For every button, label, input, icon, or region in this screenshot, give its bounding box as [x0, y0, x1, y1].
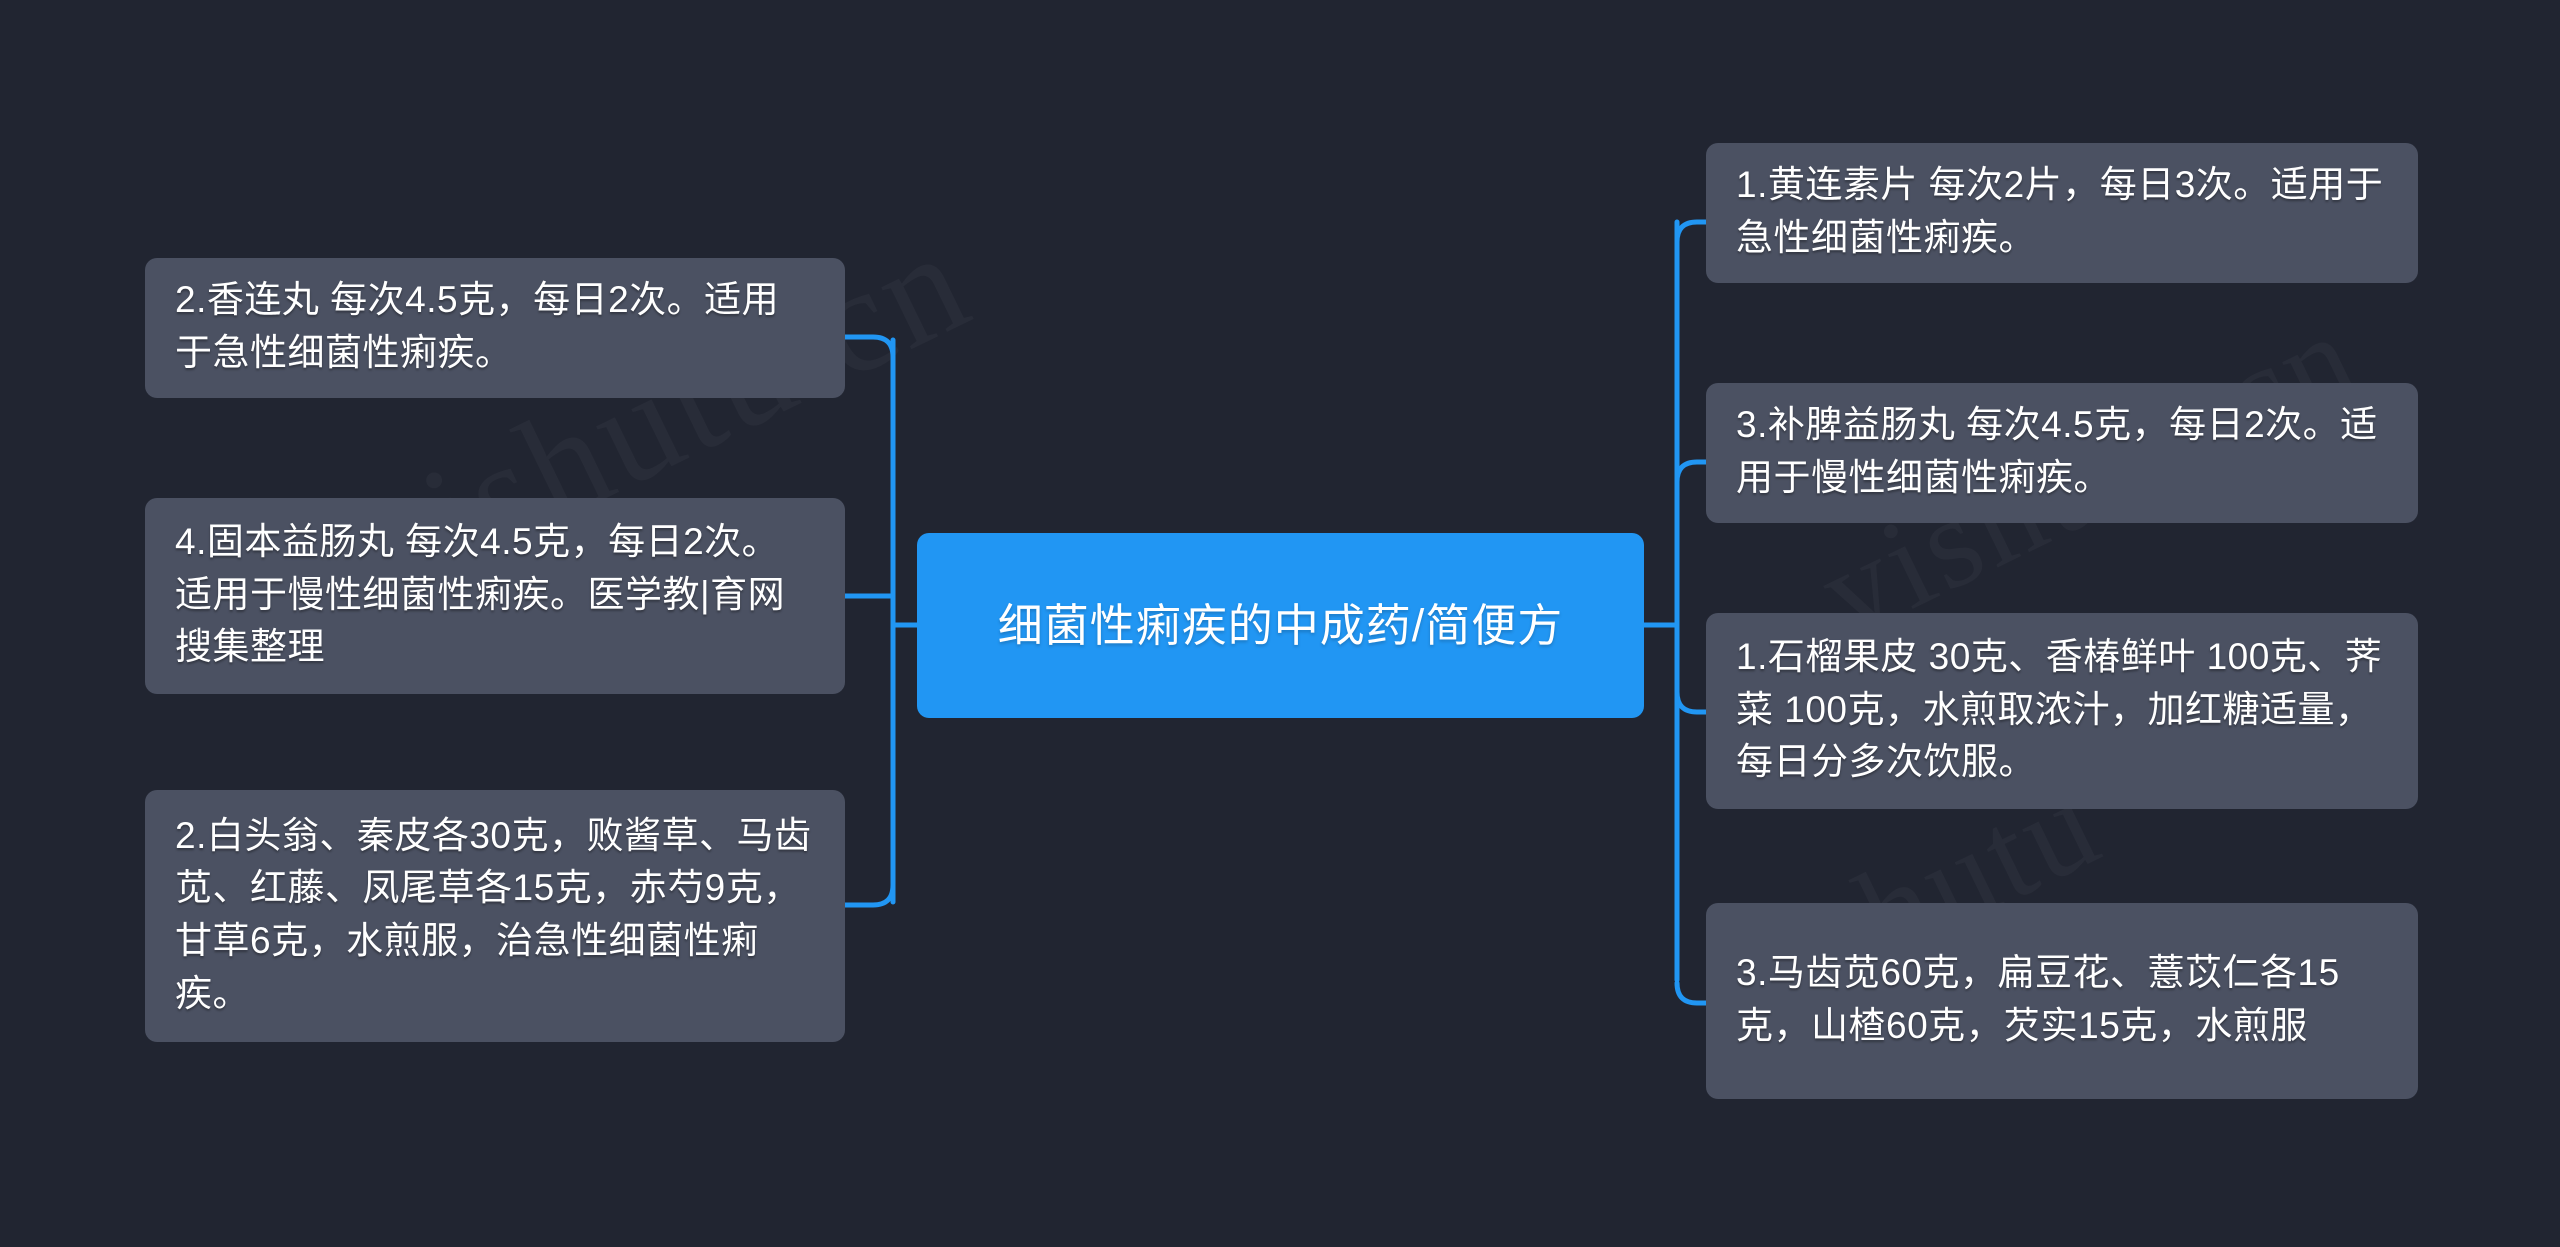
connector-right-branch-2	[1677, 462, 1706, 482]
mindmap-node-right-4[interactable]: 3.马齿苋60克，扁豆花、薏苡仁各15克，山楂60克，芡实15克，水煎服	[1706, 903, 2418, 1099]
node-label: 3.补脾益肠丸 每次4.5克，每日2次。适用于慢性细菌性痢疾。	[1736, 399, 2388, 504]
connector-right-branch-4	[1677, 983, 1706, 1003]
mindmap-node-left-3[interactable]: 2.白头翁、秦皮各30克，败酱草、马齿苋、红藤、凤尾草各15克，赤芍9克，甘草6…	[145, 790, 845, 1042]
node-label: 2.香连丸 每次4.5克，每日2次。适用于急性细菌性痢疾。	[175, 274, 815, 379]
mindmap-node-right-3[interactable]: 1.石榴果皮 30克、香椿鲜叶 100克、荠菜 100克，水煎取浓汁，加红糖适量…	[1706, 613, 2418, 809]
mindmap-node-left-1[interactable]: 2.香连丸 每次4.5克，每日2次。适用于急性细菌性痢疾。	[145, 258, 845, 398]
mindmap-node-left-2[interactable]: 4.固本益肠丸 每次4.5克，每日2次。适用于慢性细菌性痢疾。医学教|育网搜集整…	[145, 498, 845, 694]
mindmap-node-right-2[interactable]: 3.补脾益肠丸 每次4.5克，每日2次。适用于慢性细菌性痢疾。	[1706, 383, 2418, 523]
connector-left-branch-1	[845, 337, 893, 357]
node-label: 4.固本益肠丸 每次4.5克，每日2次。适用于慢性细菌性痢疾。医学教|育网搜集整…	[175, 516, 815, 674]
connector-left-branch-3	[845, 885, 893, 905]
node-label: 2.白头翁、秦皮各30克，败酱草、马齿苋、红藤、凤尾草各15克，赤芍9克，甘草6…	[175, 810, 815, 1020]
mindmap-node-right-1[interactable]: 1.黄连素片 每次2片，每日3次。适用于急性细菌性痢疾。	[1706, 143, 2418, 283]
central-node-label: 细菌性痢疾的中成药/简便方	[951, 593, 1610, 658]
mindmap-canvas: yishutu.cn yishutu.cn yishutu 2.香连丸 每次4.…	[0, 0, 2560, 1247]
node-label: 3.马齿苋60克，扁豆花、薏苡仁各15克，山楂60克，芡实15克，水煎服	[1736, 947, 2388, 1052]
connector-right-branch-1	[1677, 222, 1706, 242]
node-label: 1.石榴果皮 30克、香椿鲜叶 100克、荠菜 100克，水煎取浓汁，加红糖适量…	[1736, 631, 2388, 789]
connector-right-branch-3	[1677, 692, 1706, 712]
node-label: 1.黄连素片 每次2片，每日3次。适用于急性细菌性痢疾。	[1736, 159, 2388, 264]
mindmap-central-node[interactable]: 细菌性痢疾的中成药/简便方	[917, 533, 1644, 718]
